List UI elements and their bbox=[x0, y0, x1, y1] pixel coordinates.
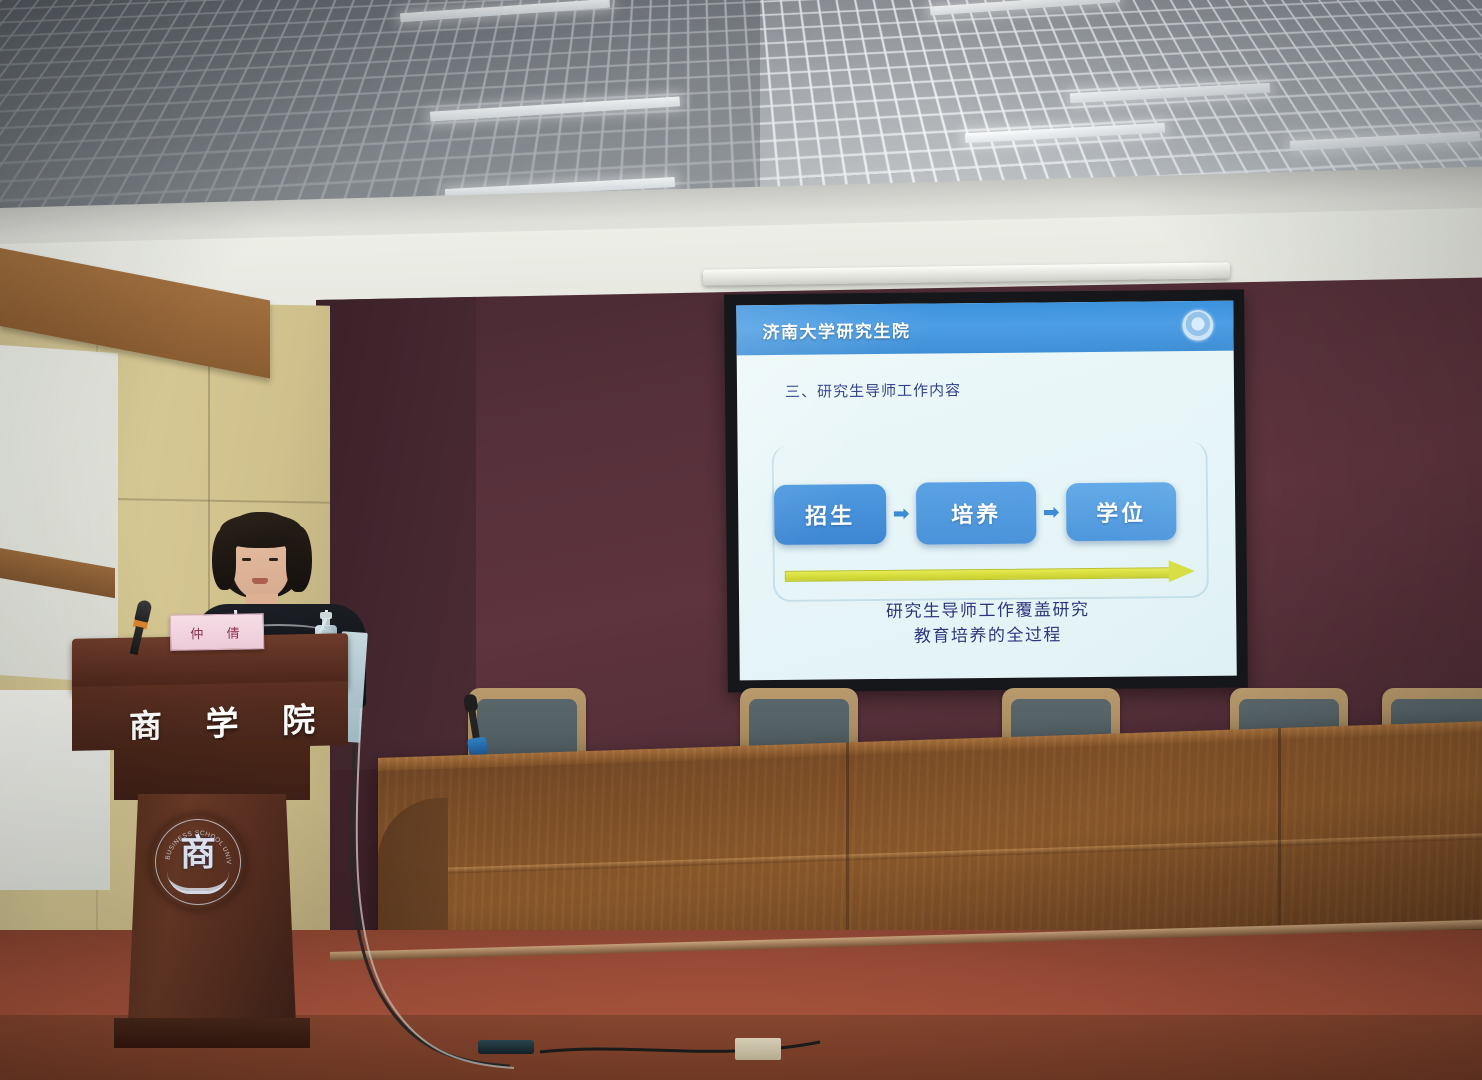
left-wall-white-panel bbox=[0, 345, 118, 683]
presenter-mouth bbox=[252, 578, 268, 584]
flow-box-admission: 招生 bbox=[774, 484, 887, 545]
presentation-slide: 济南大学研究生院 三、研究生导师工作内容 招生 ➡ 培养 ➡ 学位 研究生导师工… bbox=[736, 301, 1237, 681]
floor-box bbox=[735, 1038, 781, 1060]
process-arrow-head-icon bbox=[1169, 560, 1195, 582]
emblem-ring-text: BUSINESS SCHOOL UNIVERSITY OF JINAN bbox=[158, 822, 238, 902]
podium-base bbox=[114, 1018, 310, 1048]
slide-process-flow: 招生 ➡ 培养 ➡ 学位 bbox=[774, 451, 1220, 575]
presenter-eye bbox=[242, 558, 251, 561]
podium-char-3: 院 bbox=[282, 693, 317, 742]
slide-caption: 研究生导师工作覆盖研究 教育培养的全过程 bbox=[739, 597, 1236, 651]
floor-cable bbox=[300, 690, 900, 1080]
slide-header-title: 济南大学研究生院 bbox=[762, 316, 910, 342]
projection-screen: 济南大学研究生院 三、研究生导师工作内容 招生 ➡ 培养 ➡ 学位 研究生导师工… bbox=[724, 290, 1248, 693]
floor-device bbox=[478, 1040, 534, 1054]
name-card-char-1: 仲 bbox=[190, 623, 207, 642]
presenter-hair-right bbox=[286, 526, 312, 592]
university-seal-icon bbox=[1182, 310, 1213, 341]
lectern-podium: 商 学 院 商 BUSINESS SCHOOL UNIVERSITY OF JI… bbox=[62, 636, 362, 1056]
flow-box-training: 培养 bbox=[916, 482, 1037, 545]
presenter-eye bbox=[269, 558, 278, 561]
slide-header-bar: 济南大学研究生院 bbox=[736, 301, 1233, 356]
flow-box-degree: 学位 bbox=[1066, 482, 1177, 541]
podium-mid-block bbox=[114, 740, 310, 800]
name-card-char-2: 倩 bbox=[226, 622, 243, 641]
flow-arrow-icon: ➡ bbox=[1036, 501, 1066, 524]
lecture-hall-photo: 济南大学研究生院 三、研究生导师工作内容 招生 ➡ 培养 ➡ 学位 研究生导师工… bbox=[0, 0, 1482, 1080]
flow-arrow-icon: ➡ bbox=[886, 502, 916, 525]
name-card: 仲 倩 bbox=[170, 613, 265, 651]
presenter-hair-left bbox=[212, 528, 236, 590]
slide-section-heading: 三、研究生导师工作内容 bbox=[785, 379, 961, 402]
podium-char-2: 学 bbox=[205, 696, 240, 745]
slide-caption-line-2: 教育培养的全过程 bbox=[739, 621, 1236, 650]
process-arrow-shaft bbox=[785, 567, 1175, 582]
business-school-emblem-icon: 商 BUSINESS SCHOOL UNIVERSITY OF JINAN bbox=[150, 814, 246, 910]
